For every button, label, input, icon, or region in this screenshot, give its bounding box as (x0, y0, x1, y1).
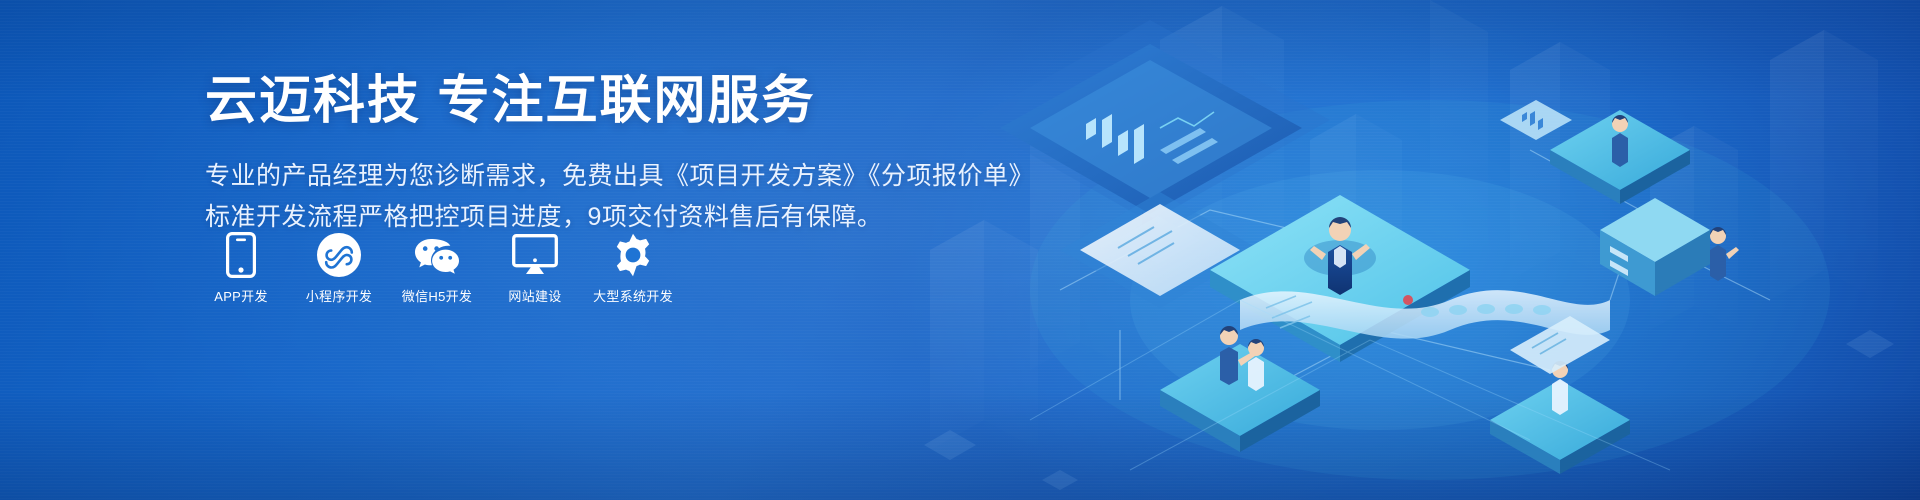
banner-subtitle: 专业的产品经理为您诊断需求，免费出具《项目开发方案》《分项报价单》 标准开发流程… (205, 156, 1034, 237)
mobile-phone-icon (226, 232, 256, 278)
gear-icon (611, 232, 655, 278)
service-item-app[interactable]: APP开发 (205, 232, 277, 303)
monitor-icon (512, 232, 558, 278)
service-item-mini-program[interactable]: 小程序开发 (303, 232, 375, 303)
banner-copy: 云迈科技 专注互联网服务 专业的产品经理为您诊断需求，免费出具《项目开发方案》《… (205, 72, 1034, 237)
service-label-website: 网站建设 (508, 290, 561, 303)
isometric-illustration (910, 0, 1920, 500)
wechat-icon (412, 232, 462, 278)
service-label-wechat-h5: 微信H5开发 (402, 290, 472, 303)
banner-headline: 云迈科技 专注互联网服务 (205, 72, 1034, 130)
service-list: APP开发 小程序开发 (205, 232, 669, 303)
service-label-app: APP开发 (214, 290, 268, 303)
service-item-wechat-h5[interactable]: 微信H5开发 (401, 232, 473, 303)
hero-banner: 云迈科技 专注互联网服务 专业的产品经理为您诊断需求，免费出具《项目开发方案》《… (0, 0, 1920, 500)
banner-subtitle-line-1: 专业的产品经理为您诊断需求，免费出具《项目开发方案》《分项报价单》 (205, 156, 1034, 197)
service-label-mini-program: 小程序开发 (306, 290, 373, 303)
service-label-large-system: 大型系统开发 (593, 290, 673, 303)
service-item-large-system[interactable]: 大型系统开发 (597, 232, 669, 303)
mini-program-icon (317, 232, 361, 278)
service-item-website[interactable]: 网站建设 (499, 232, 571, 303)
